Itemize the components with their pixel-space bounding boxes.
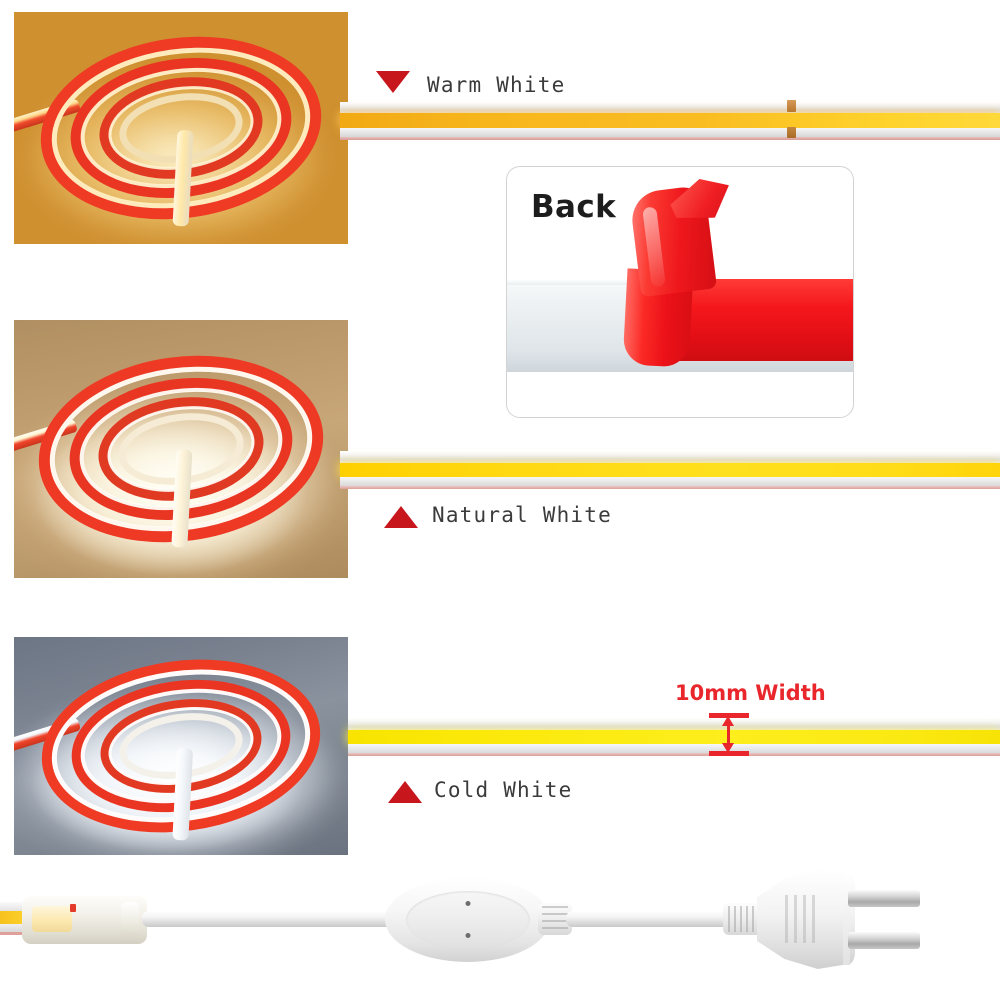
strip-end-connector — [22, 896, 147, 944]
inline-power-driver — [385, 877, 550, 962]
label-warm-white: Warm White — [427, 73, 565, 97]
photo-natural-white — [14, 320, 348, 578]
plug-face-edge — [843, 873, 850, 965]
driver-dot-bottom — [465, 933, 470, 938]
strip-natural-casing-top — [340, 451, 1000, 463]
strip-warm-casing-bottom — [340, 128, 1000, 137]
connector-window — [32, 906, 72, 932]
driver-strain-ribs — [542, 906, 568, 932]
photo-warm-white — [14, 12, 348, 244]
strip-cold-casing-top — [348, 718, 1000, 730]
plug-grip-ribs — [785, 895, 819, 943]
strip-cold-core — [348, 730, 1000, 744]
strip-warm-base-line — [340, 137, 1000, 140]
strip-natural-casing-bottom — [340, 477, 1000, 486]
power-cable-right-segment — [566, 911, 731, 927]
dimension-label: 10mm Width — [675, 681, 826, 705]
back-detail-panel: Back — [506, 166, 854, 418]
strip-warm-white — [340, 96, 1000, 148]
warm-strip-coil — [35, 20, 327, 236]
strip-warm-core — [340, 113, 1000, 128]
strip-natural-core — [340, 463, 1000, 477]
connector-collar — [121, 902, 139, 938]
photo-cold-white — [14, 637, 348, 855]
adhesive-tape-tip — [668, 176, 731, 221]
plug-strain-ribs — [728, 906, 762, 932]
driver-dot-top — [465, 901, 470, 906]
dimension-arrowhead-up — [722, 716, 734, 726]
adhesive-tape-flat — [667, 279, 854, 361]
back-panel-title: Back — [531, 189, 616, 225]
product-image-root: Warm White Back — [0, 0, 1000, 1000]
strip-natural-base-line — [340, 486, 1000, 489]
strip-cold-casing-bottom — [348, 744, 1000, 753]
triangle-up-icon-cold — [388, 781, 422, 803]
strip-warm-copper-pad-bottom — [787, 127, 796, 138]
triangle-up-icon-natural — [384, 506, 418, 528]
plug-pin-top — [848, 890, 920, 907]
label-natural-white: Natural White — [432, 503, 612, 527]
driver-embossed-oval — [406, 891, 530, 949]
label-cold-white: Cold White — [434, 778, 572, 802]
triangle-down-icon-warm — [376, 71, 410, 93]
strip-cold-base-line — [348, 753, 1000, 756]
strip-warm-casing-top — [340, 102, 1000, 113]
plug-pin-bottom — [848, 932, 920, 949]
strip-warm-copper-pad-top — [787, 100, 796, 112]
connector-red-mark — [70, 904, 76, 912]
strip-natural-white — [340, 447, 1000, 495]
strip-cold-white — [348, 714, 1000, 762]
natural-strip-coil — [31, 337, 330, 562]
dimension-arrowhead-down — [722, 743, 734, 753]
power-cable-left-segment — [142, 911, 397, 927]
